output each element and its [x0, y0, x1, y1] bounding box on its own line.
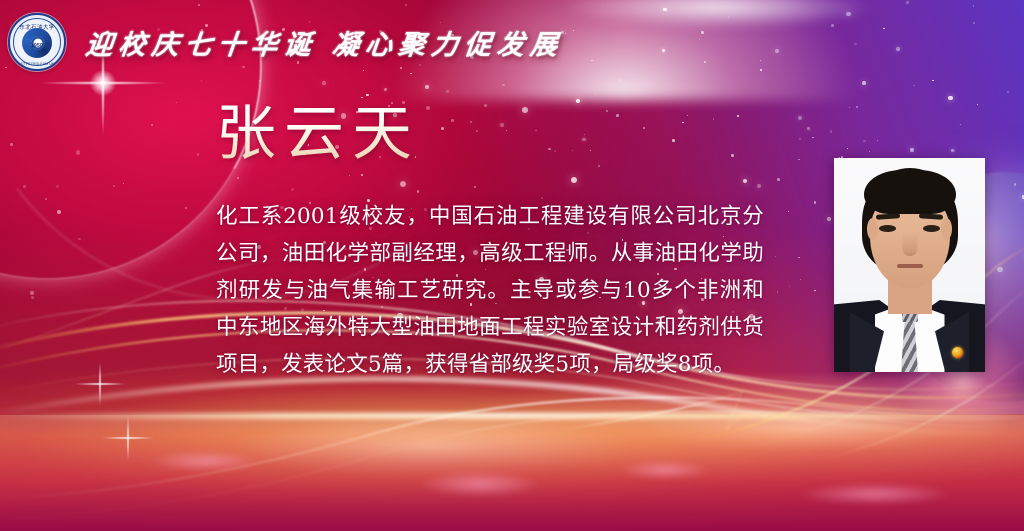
portrait-hair-front: [864, 170, 956, 214]
alumni-name: 张云天: [216, 104, 420, 164]
portrait-ear-left: [867, 218, 878, 240]
alumni-profile-poster: 东北石油大学 1950 NORTHEAST PETROLEUM UNIVERSI…: [0, 0, 1024, 531]
sparkle-icon: [124, 434, 132, 442]
portrait-eye-left: [879, 225, 896, 232]
portrait-eye-right: [923, 225, 940, 232]
floor-highlight-patch: [620, 461, 710, 479]
emblem-english-name: NORTHEAST PETROLEUM UNIVERSITY: [8, 62, 66, 66]
floor-highlight-patch: [420, 471, 540, 497]
emblem-founding-year: 1950: [31, 43, 43, 49]
anniversary-slogan: 迎校庆七十华诞 凝心聚力促发展: [84, 23, 566, 62]
portrait-nose: [902, 234, 917, 256]
alumni-biography: 化工系2001级校友，中国石油工程建设有限公司北京分公司，油田化学部副经理，高级…: [216, 198, 764, 383]
floor-highlight-patch: [800, 483, 950, 505]
alumni-portrait-photo: [834, 158, 985, 372]
university-emblem-icon: 东北石油大学 1950 NORTHEAST PETROLEUM UNIVERSI…: [8, 13, 66, 71]
poster-header: 东北石油大学 1950 NORTHEAST PETROLEUM UNIVERSI…: [0, 0, 1024, 84]
portrait-mouth: [897, 264, 923, 268]
floor-highlight-patch: [150, 451, 260, 471]
sparkle-icon: [96, 380, 104, 388]
portrait-ear-right: [941, 218, 952, 240]
portrait-lapel-pin: [952, 347, 963, 358]
